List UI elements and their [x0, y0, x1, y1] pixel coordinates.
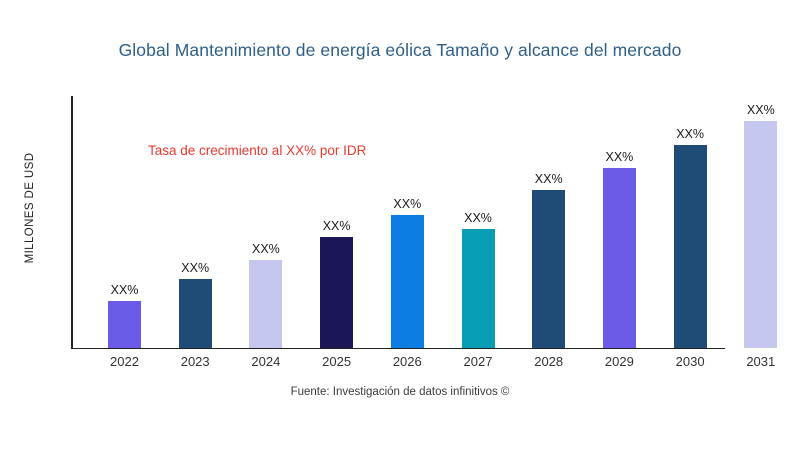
bar-rect-2031[interactable]: [744, 121, 777, 348]
x-tick-label-2030: 2030: [660, 354, 720, 369]
bar-value-label-2027: XX%: [464, 211, 492, 225]
x-tick-label-2028: 2028: [519, 354, 579, 369]
x-tick-label-2023: 2023: [165, 354, 225, 369]
bar-value-label-2028: XX%: [535, 172, 563, 186]
bar-2031[interactable]: XX%: [744, 121, 777, 348]
bar-value-label-2030: XX%: [676, 127, 704, 141]
bar-2028[interactable]: XX%: [532, 190, 565, 348]
x-tick-label-2022: 2022: [95, 354, 155, 369]
bar-2025[interactable]: XX%: [320, 237, 353, 348]
bar-rect-2026[interactable]: [391, 215, 424, 348]
bar-value-label-2022: XX%: [111, 283, 139, 297]
bar-rect-2025[interactable]: [320, 237, 353, 348]
bar-rect-2022[interactable]: [108, 301, 141, 348]
bar-rect-2030[interactable]: [674, 145, 707, 348]
bar-value-label-2031: XX%: [747, 103, 775, 117]
bar-rect-2027[interactable]: [462, 229, 495, 348]
bar-2030[interactable]: XX%: [674, 145, 707, 348]
x-tick-label-2029: 2029: [589, 354, 649, 369]
bar-value-label-2026: XX%: [393, 197, 421, 211]
bar-2023[interactable]: XX%: [179, 279, 212, 348]
bar-rect-2029[interactable]: [603, 168, 636, 348]
x-tick-label-2026: 2026: [377, 354, 437, 369]
x-tick-label-2025: 2025: [307, 354, 367, 369]
bar-2029[interactable]: XX%: [603, 168, 636, 348]
bar-rect-2028[interactable]: [532, 190, 565, 348]
x-tick-label-2031: 2031: [731, 354, 791, 369]
bar-value-label-2025: XX%: [323, 219, 351, 233]
market-size-bar-chart: Global Mantenimiento de energía eólica T…: [0, 0, 800, 450]
bar-2026[interactable]: XX%: [391, 215, 424, 348]
plot-area: XX%2022XX%2023XX%2024XX%2025XX%2026XX%20…: [0, 0, 800, 450]
bar-2022[interactable]: XX%: [108, 301, 141, 348]
x-tick-label-2027: 2027: [448, 354, 508, 369]
bar-2027[interactable]: XX%: [462, 229, 495, 348]
bar-rect-2024[interactable]: [249, 260, 282, 348]
bar-value-label-2024: XX%: [252, 242, 280, 256]
bar-value-label-2023: XX%: [181, 261, 209, 275]
bar-value-label-2029: XX%: [605, 150, 633, 164]
bar-rect-2023[interactable]: [179, 279, 212, 348]
source-note: Fuente: Investigación de datos infinitiv…: [0, 386, 800, 398]
x-tick-label-2024: 2024: [236, 354, 296, 369]
bar-2024[interactable]: XX%: [249, 260, 282, 348]
